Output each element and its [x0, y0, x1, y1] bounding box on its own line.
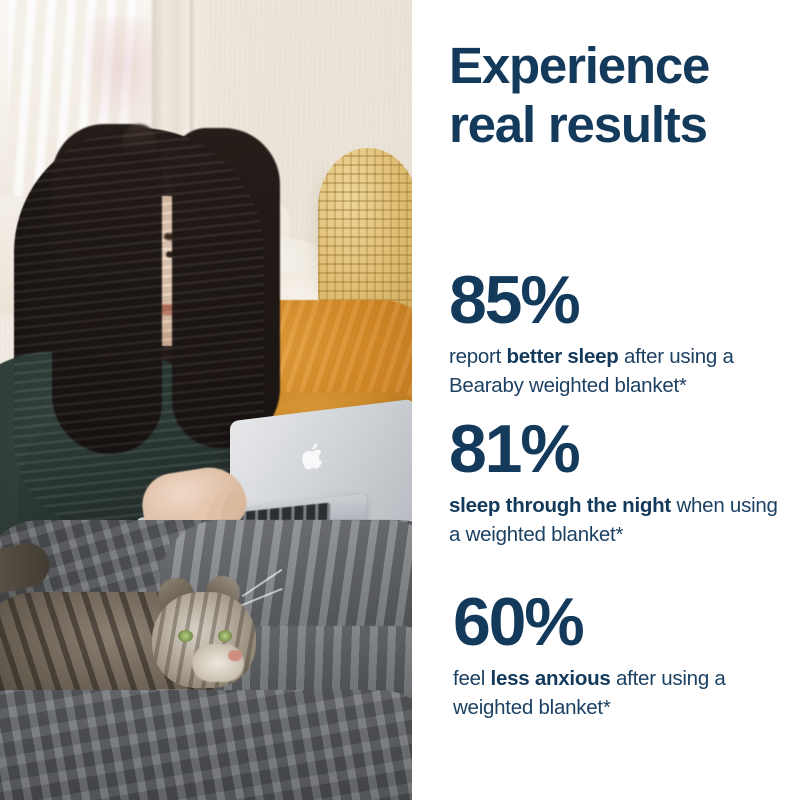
- stat-block-2: 81% sleep through the night when using a…: [449, 415, 794, 549]
- cat-eye-left: [178, 630, 193, 642]
- marketing-infographic: Experience real results 85% report bette…: [0, 0, 800, 800]
- stat-block-3: 60% feel less anxious after using a weig…: [453, 588, 798, 722]
- stat-caption: feel less anxious after using a weighted…: [453, 665, 798, 722]
- content-panel: Experience real results 85% report bette…: [412, 0, 800, 800]
- stat-percentage: 60%: [453, 588, 798, 656]
- page-title: Experience real results: [449, 36, 779, 154]
- stat-percentage: 85%: [449, 266, 794, 334]
- stat-percentage: 81%: [449, 415, 794, 483]
- hair-strand-texture: [14, 128, 264, 528]
- stat-block-1: 85% report better sleep after using a Be…: [449, 266, 794, 400]
- apple-logo-icon: [300, 440, 326, 473]
- stat-caption: sleep through the night when using a wei…: [449, 492, 794, 549]
- cat-nose: [228, 650, 242, 661]
- cat-eye-right: [218, 630, 232, 642]
- lifestyle-photo: [0, 0, 412, 800]
- stat-caption: report better sleep after using a Bearab…: [449, 343, 794, 400]
- blanket-foreground-texture: [0, 690, 412, 800]
